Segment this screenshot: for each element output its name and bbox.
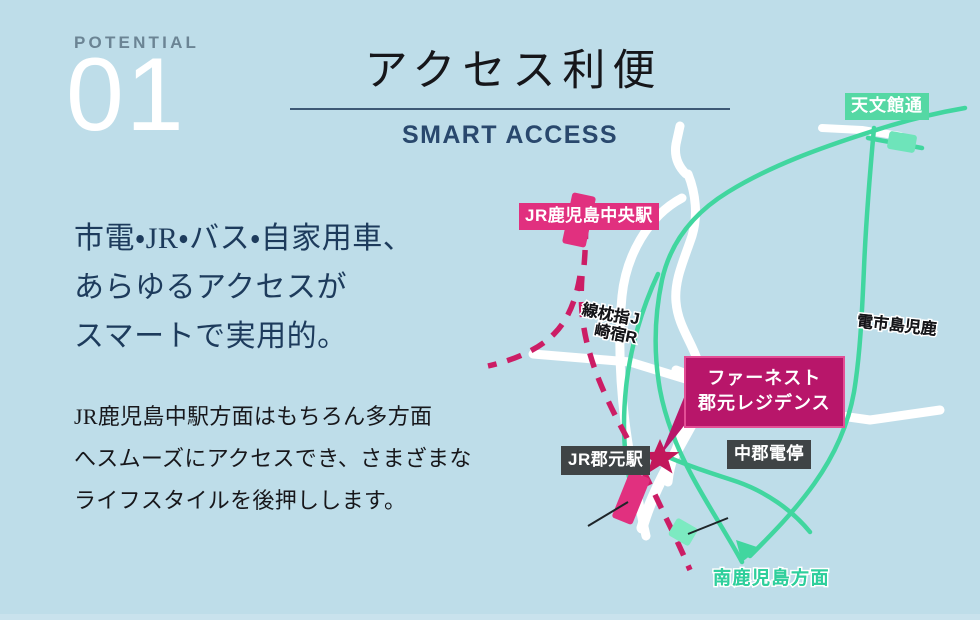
map-label-jr-chuo-station[interactable]: JR鹿児島中央駅 xyxy=(519,203,659,230)
residence-name-line1: ファーネスト xyxy=(698,366,831,391)
map-label-nakakori-stop[interactable]: 中郡電停 xyxy=(727,440,811,469)
map-label-minami-direction[interactable]: 南鹿児島方面 xyxy=(713,568,830,589)
bottom-strip xyxy=(0,614,980,620)
station-marker-tenmonkan xyxy=(887,131,918,154)
body-paragraph: JR鹿児島中駅方面はもちろん多方面 へスムーズにアクセスでき、さまざまな ライフ… xyxy=(74,396,472,522)
access-section: POTENTIAL 01 市電・JR・バス・自家用車、 あらゆるアクセスが スマ… xyxy=(0,0,980,620)
road-north-stub xyxy=(675,126,686,174)
tram-line-east xyxy=(750,128,874,556)
access-map: JR指宿枕崎線 JR指宿枕崎線 鹿児島市電 鹿児島市電 xyxy=(470,70,980,620)
map-label-tenmonkan[interactable]: 天文館通 xyxy=(845,93,929,120)
section-number: 01 xyxy=(66,43,186,147)
lead-paragraph: 市電・JR・バス・自家用車、 あらゆるアクセスが スマートで実用的。 xyxy=(74,214,413,361)
map-label-residence[interactable]: ファーネスト 郡元レジデンス xyxy=(684,356,845,428)
residence-name-line2: 郡元レジデンス xyxy=(698,391,831,416)
map-label-minami-wrap: 南鹿児島方面 南鹿児島方面 xyxy=(713,568,830,589)
map-graphic xyxy=(470,70,980,620)
map-label-jr-korimoto-station[interactable]: JR郡元駅 xyxy=(561,446,650,475)
